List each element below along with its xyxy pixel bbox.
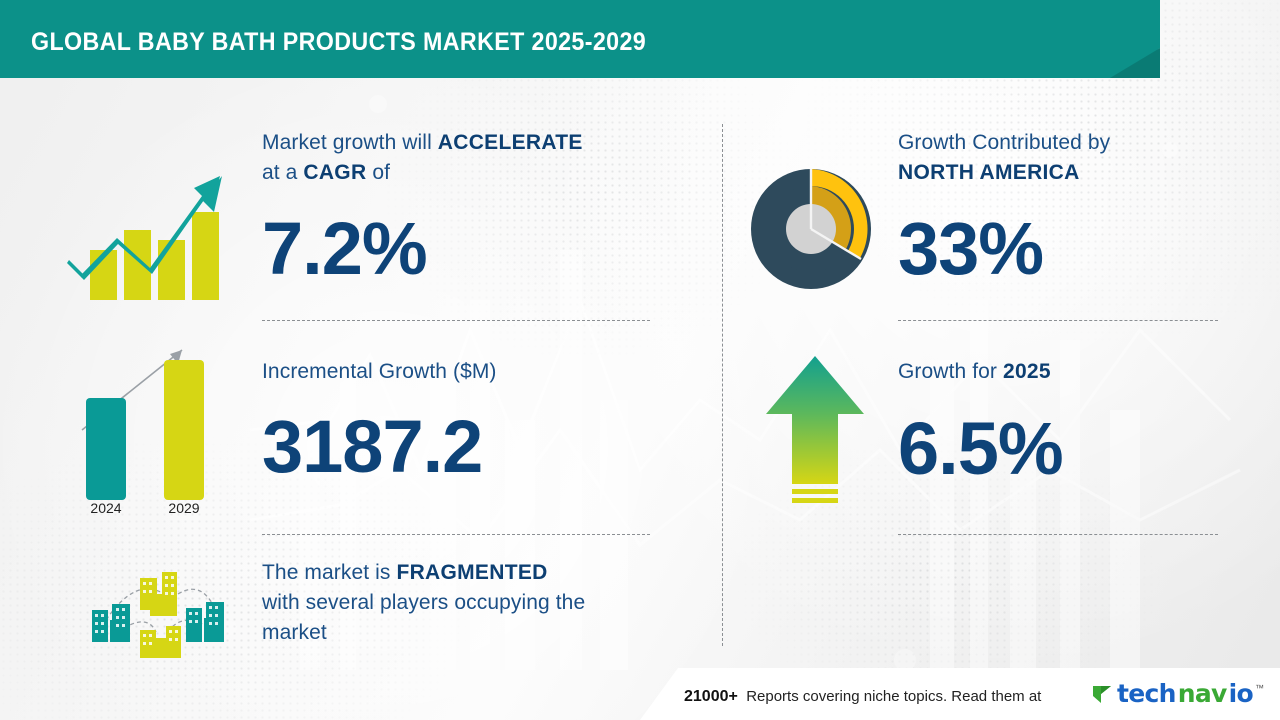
footer-tagline: Reports covering niche topics. Read them…	[746, 688, 1041, 705]
column-divider	[722, 124, 723, 646]
footer-report-count: 21000+	[684, 688, 738, 705]
region-caption-line2: NORTH AMERICA	[898, 161, 1080, 184]
cagr-caption-line2-pre: at a	[262, 161, 303, 184]
region-caption-line1: Growth Contributed by	[898, 128, 1110, 158]
divider-right-2	[898, 534, 1218, 535]
cagr-caption-line1-pre: Market growth will	[262, 131, 438, 154]
fragmentation-line1-bold: FRAGMENTED	[396, 561, 547, 584]
footer-text: 21000+ Reports covering niche topics. Re…	[684, 688, 1041, 706]
divider-right-1	[898, 320, 1218, 321]
fragmentation-caption: The market is FRAGMENTED with several pl…	[262, 558, 682, 648]
divider-left-1	[262, 320, 650, 321]
growth-chart-icon	[62, 150, 237, 305]
city-clusters-icon	[78, 560, 238, 665]
yearly-growth-caption-pre: Growth for	[898, 360, 1003, 383]
logo-trademark: ™	[1255, 683, 1264, 693]
fragmentation-line1-pre: The market is	[262, 561, 396, 584]
cagr-caption: Market growth will ACCELERATE at a CAGR …	[262, 128, 583, 188]
bar-label-2024: 2024	[90, 500, 121, 515]
technavio-arrow-icon	[1091, 681, 1115, 707]
cagr-caption-line2-post: of	[366, 161, 390, 184]
divider-left-2	[262, 534, 650, 535]
yearly-growth-caption-bold: 2025	[1003, 360, 1051, 383]
fragmentation-line3: market	[262, 618, 682, 648]
fragmentation-line2: with several players occupying the	[262, 588, 682, 618]
page-title: GLOBAL BABY BATH PRODUCTS MARKET 2025-20…	[31, 28, 646, 57]
region-caption: Growth Contributed by NORTH AMERICA	[898, 128, 1110, 188]
bar-label-2029: 2029	[168, 500, 199, 515]
cagr-caption-line2-bold: CAGR	[303, 161, 366, 184]
cagr-value: 7.2%	[262, 210, 427, 288]
cagr-caption-line1-bold: ACCELERATE	[438, 131, 583, 154]
region-value: 33%	[898, 210, 1043, 288]
donut-chart-icon	[745, 163, 877, 300]
logo-part-nav: nav	[1178, 679, 1227, 708]
incremental-growth-caption: Incremental Growth ($M)	[262, 357, 497, 387]
up-arrow-icon	[760, 352, 870, 517]
logo-part-tech: tech	[1117, 679, 1176, 708]
header-banner: GLOBAL BABY BATH PRODUCTS MARKET 2025-20…	[0, 0, 1160, 78]
yearly-growth-caption: Growth for 2025	[898, 357, 1051, 387]
two-bar-comparison-icon: 2024 2029	[70, 330, 230, 520]
yearly-growth-value: 6.5%	[898, 410, 1063, 488]
footer: 21000+ Reports covering niche topics. Re…	[0, 668, 1280, 720]
technavio-logo[interactable]: technavio™	[1091, 679, 1264, 708]
logo-part-io: io	[1229, 679, 1253, 708]
incremental-growth-value: 3187.2	[262, 408, 482, 486]
